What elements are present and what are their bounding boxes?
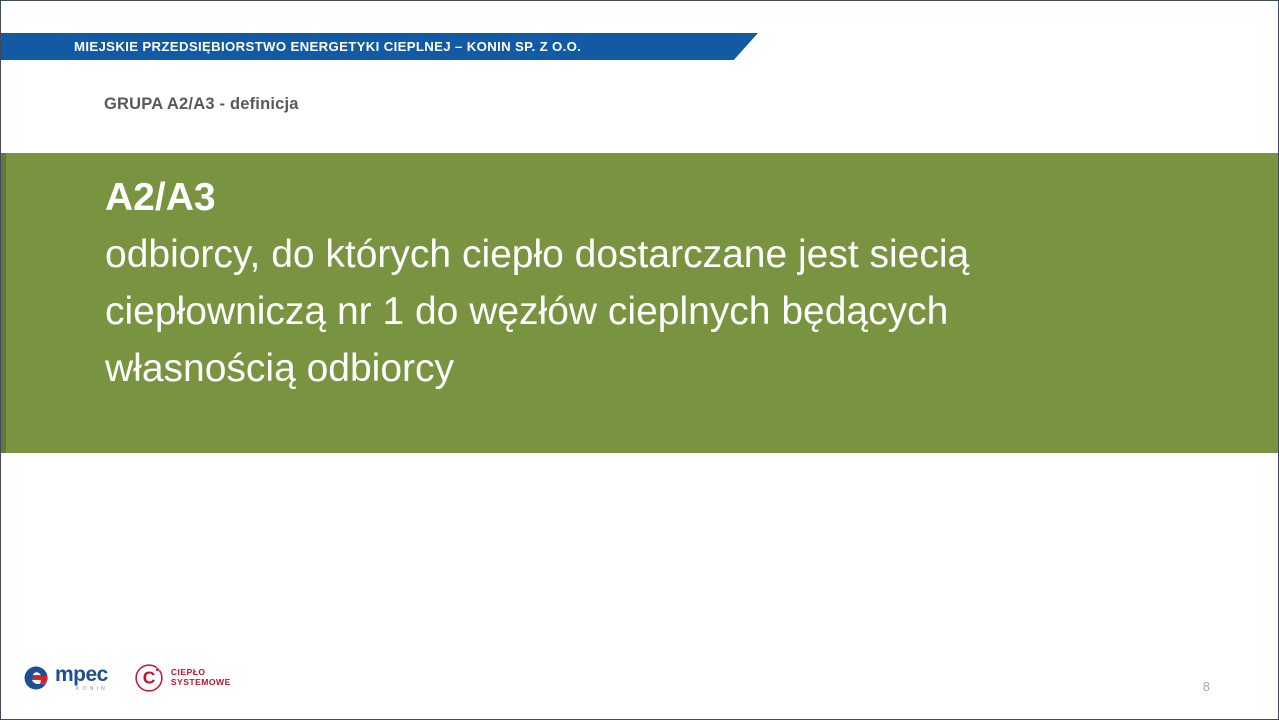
page-number: 8 bbox=[1203, 679, 1210, 694]
content-line-3: własnością odbiorcy bbox=[105, 340, 1238, 397]
footer-logos: mpec KONIN C CIEPŁO SYSTEMOWE bbox=[23, 663, 231, 693]
cieplo-systemowe-logo: C CIEPŁO SYSTEMOWE bbox=[134, 663, 231, 693]
content-block: A2/A3 odbiorcy, do których ciepło dostar… bbox=[1, 153, 1278, 453]
company-banner: MIEJSKIE PRZEDSIĘBIORSTWO ENERGETYKI CIE… bbox=[1, 33, 758, 60]
content-line-heading: A2/A3 bbox=[105, 169, 1238, 226]
mpec-wordmark-text: mpec bbox=[55, 664, 108, 685]
mpec-wordmark-subtitle: KONIN bbox=[55, 687, 108, 692]
mpec-wordmark: mpec KONIN bbox=[55, 664, 108, 692]
mpec-logo: mpec KONIN bbox=[23, 664, 108, 692]
content-line-1: odbiorcy, do których ciepło dostarczane … bbox=[105, 226, 1238, 283]
content-text: A2/A3 odbiorcy, do których ciepło dostar… bbox=[105, 169, 1238, 397]
content-line-2: ciepłowniczą nr 1 do węzłów cieplnych bę… bbox=[105, 283, 1238, 340]
mpec-emblem-icon bbox=[23, 665, 49, 691]
company-banner-title: MIEJSKIE PRZEDSIĘBIORSTWO ENERGETYKI CIE… bbox=[1, 39, 581, 54]
slide: MIEJSKIE PRZEDSIĘBIORSTWO ENERGETYKI CIE… bbox=[0, 0, 1279, 720]
cieplo-systemowe-line-2: SYSTEMOWE bbox=[171, 678, 231, 688]
svg-text:C: C bbox=[143, 667, 156, 687]
slide-subtitle: GRUPA A2/A3 - definicja bbox=[104, 95, 299, 114]
content-block-left-edge bbox=[1, 153, 6, 453]
cieplo-systemowe-emblem-icon: C bbox=[134, 663, 164, 693]
cieplo-systemowe-wordmark: CIEPŁO SYSTEMOWE bbox=[171, 668, 231, 687]
